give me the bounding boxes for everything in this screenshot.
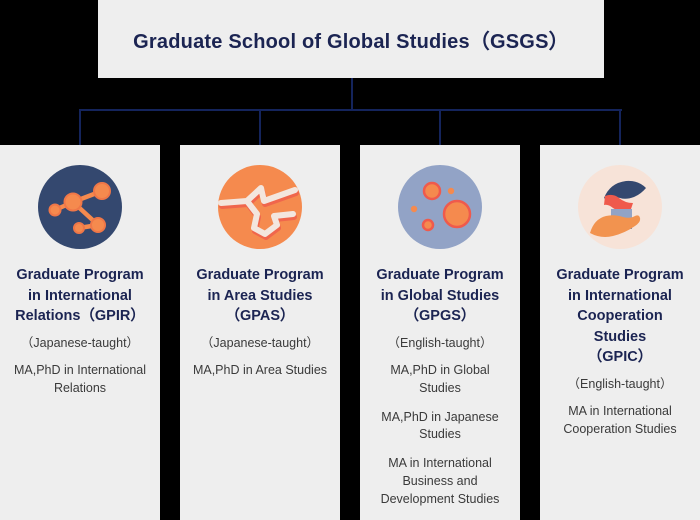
program-title: Graduate Program in International Relati…	[15, 265, 145, 327]
planet-dots-icon	[398, 165, 482, 249]
page-title: Graduate School of Global Studies（GSGS）	[133, 25, 569, 54]
degree-item: MA in International Cooperation Studies	[548, 403, 692, 439]
globe-map-icon	[218, 165, 302, 249]
degree-item: MA,PhD in Japanese Studies	[368, 409, 512, 445]
program-language: （English-taught）	[568, 376, 673, 394]
program-title: Graduate Program in Area Studies （GPAS）	[196, 265, 323, 327]
degree-item: MA,PhD in Area Studies	[188, 362, 332, 380]
program-card-gpir[interactable]: Graduate Program in International Relati…	[0, 145, 160, 520]
degree-item: MA,PhD in International Relations	[8, 362, 152, 398]
connector-drop-gpic	[619, 109, 621, 145]
connector-horizontal-bar	[79, 109, 622, 111]
diagram-canvas: Graduate School of Global Studies（GSGS）	[0, 0, 700, 520]
degree-item: MA in International Business and Develop…	[368, 455, 512, 508]
connector-drop-gpgs	[439, 109, 441, 145]
program-card-gpic[interactable]: Graduate Program in International Cooper…	[540, 145, 700, 520]
degree-list: MA,PhD in Area Studies	[188, 362, 332, 380]
program-title: Graduate Program in Global Studies （GPGS…	[376, 265, 503, 327]
degree-list: MA in International Cooperation Studies	[548, 403, 692, 439]
program-language: （Japanese-taught）	[201, 335, 319, 353]
network-nodes-icon	[38, 165, 122, 249]
program-card-gpas[interactable]: Graduate Program in Area Studies （GPAS） …	[180, 145, 340, 520]
graduate-school-header: Graduate School of Global Studies（GSGS）	[98, 0, 604, 78]
degree-list: MA,PhD in Global Studies MA,PhD in Japan…	[368, 362, 512, 508]
program-title: Graduate Program in International Cooper…	[556, 265, 683, 368]
program-language: （English-taught）	[388, 335, 493, 353]
degree-list: MA,PhD in International Relations	[8, 362, 152, 398]
handshake-giving-icon	[578, 165, 662, 249]
connector-stem	[351, 78, 353, 111]
program-language: （Japanese-taught）	[21, 335, 139, 353]
program-card-gpgs[interactable]: Graduate Program in Global Studies （GPGS…	[360, 145, 520, 520]
connector-drop-gpir	[79, 109, 81, 145]
degree-item: MA,PhD in Global Studies	[368, 362, 512, 398]
connector-drop-gpas	[259, 109, 261, 145]
